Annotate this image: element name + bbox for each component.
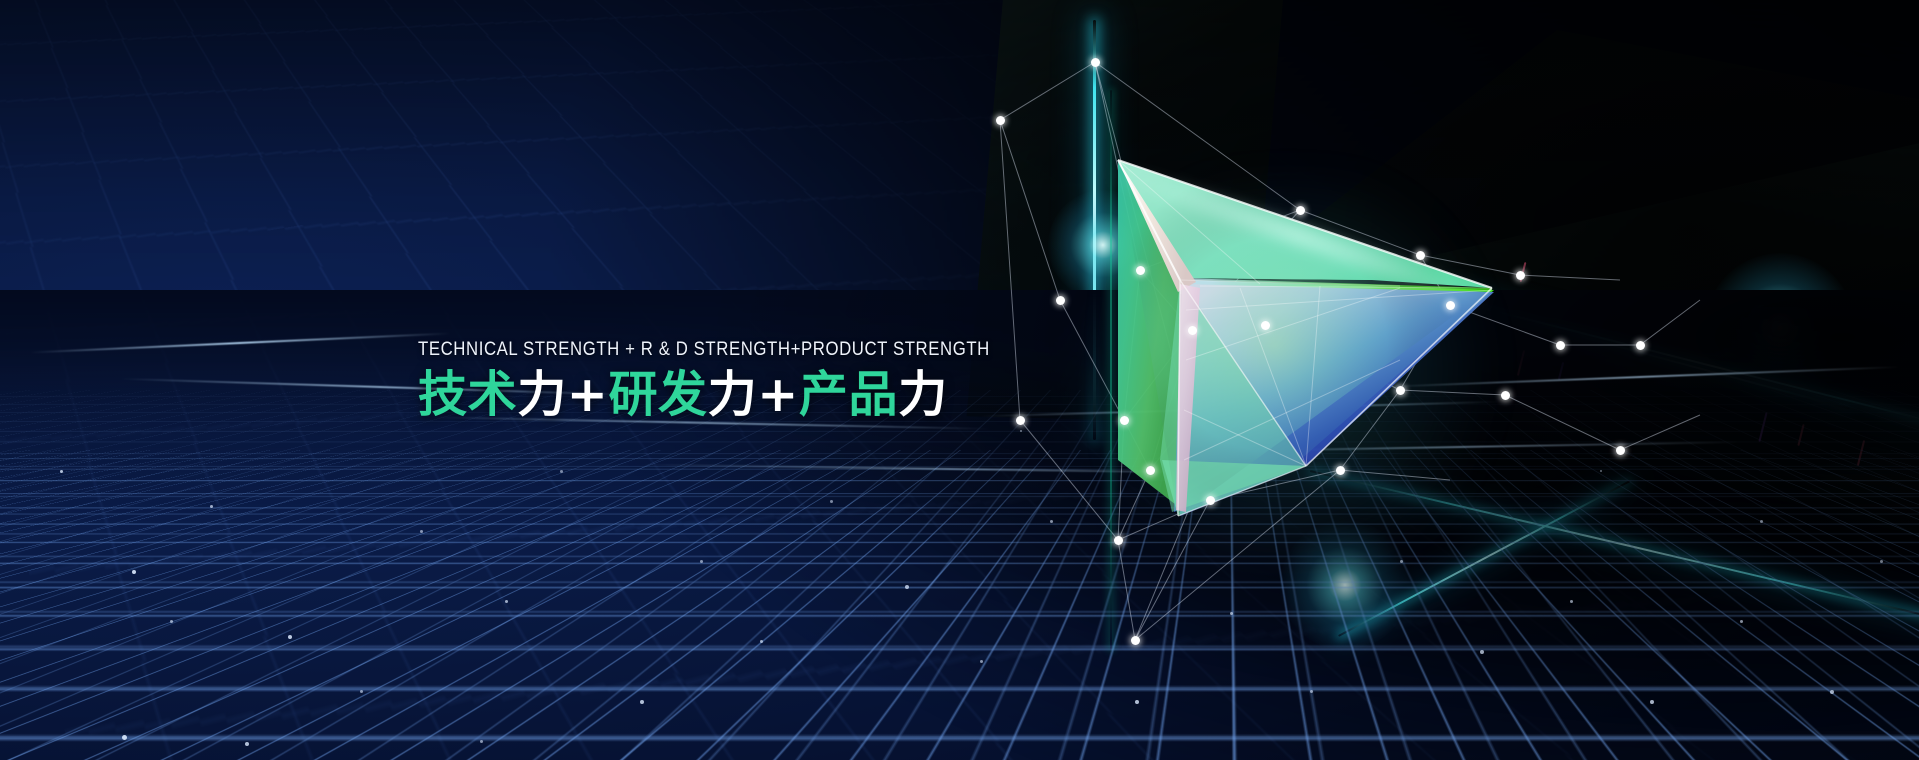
network-node: [1136, 266, 1145, 275]
network-node: [1501, 391, 1510, 400]
eyebrow-tagline: TECHNICAL STRENGTH + R & D STRENGTH+PROD…: [418, 338, 990, 361]
headline-seg-7: 产品: [799, 366, 898, 423]
network-node: [1146, 466, 1155, 475]
network-node: [1120, 416, 1129, 425]
headline-seg-2: 力: [517, 366, 567, 423]
headline-seg-1: 技术: [418, 366, 517, 423]
network-node: [1206, 496, 1215, 505]
network-node: [1188, 326, 1197, 335]
hero-banner: TECHNICAL STRENGTH + R & D STRENGTH+PROD…: [0, 0, 1919, 760]
network-node: [1336, 466, 1345, 475]
headline-seg-8: 力: [898, 366, 948, 423]
headline-seg-4: 研发: [608, 366, 707, 423]
network-node: [996, 116, 1005, 125]
hero-copy: TECHNICAL STRENGTH + R & D STRENGTH+PROD…: [418, 338, 1083, 423]
network-node: [1091, 58, 1100, 67]
network-node: [1131, 636, 1140, 645]
network-node: [1516, 271, 1525, 280]
network-node: [1056, 296, 1065, 305]
network-node: [1296, 206, 1305, 215]
network-node: [1636, 341, 1645, 350]
headline-seg-5: 力: [708, 366, 758, 423]
network-node: [1616, 446, 1625, 455]
network-node: [1261, 321, 1270, 330]
headline: 技术力+研发力+产品力: [418, 368, 1083, 423]
network-node: [1556, 341, 1565, 350]
network-node: [1416, 251, 1425, 260]
headline-seg-3: +: [567, 366, 609, 423]
network-node: [1396, 386, 1405, 395]
headline-seg-6: +: [757, 366, 799, 423]
network-node: [1114, 536, 1123, 545]
network-node: [1446, 301, 1455, 310]
